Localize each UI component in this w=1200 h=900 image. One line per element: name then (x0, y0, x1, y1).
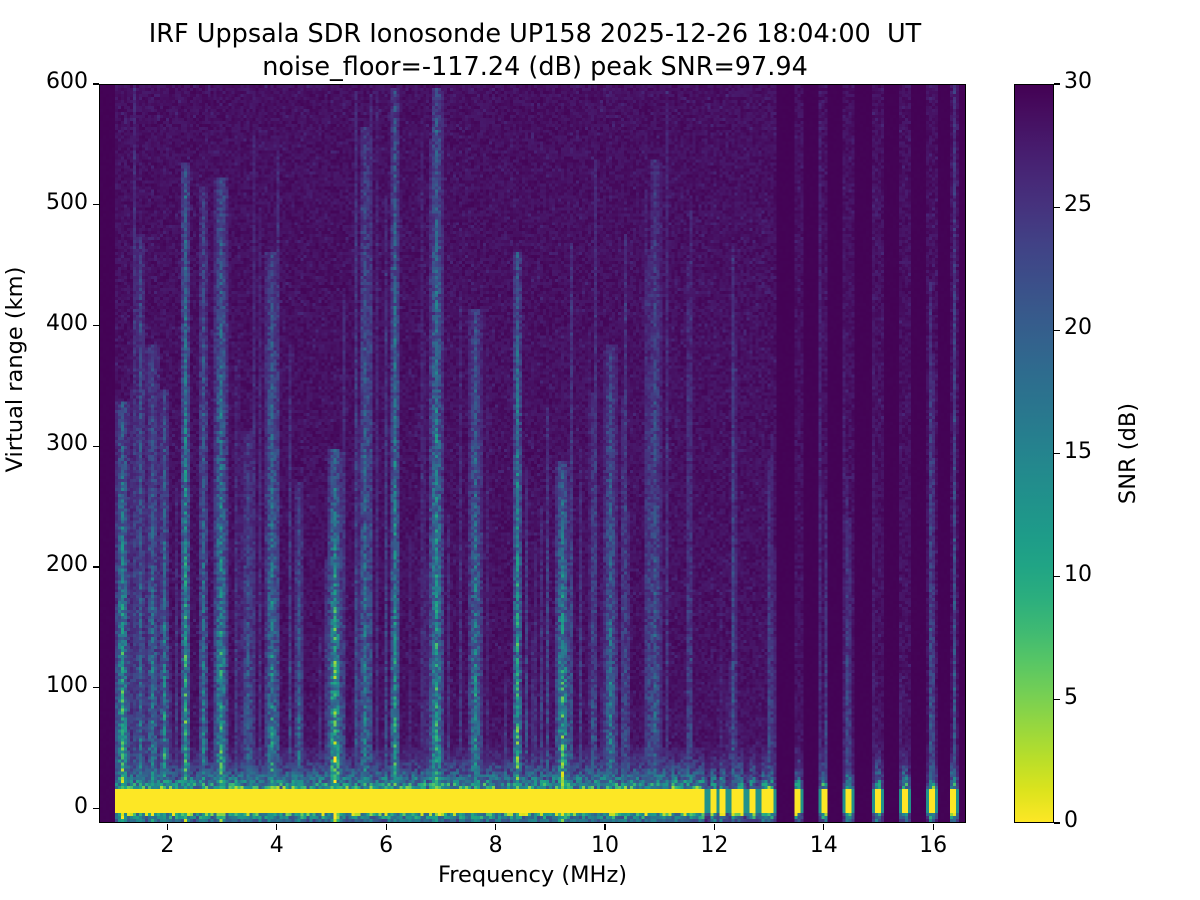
y-tick-label: 0 (74, 794, 88, 819)
ionogram-plot-area (99, 84, 966, 823)
x-tick-label: 12 (684, 833, 744, 858)
y-tick-mark (93, 446, 99, 447)
title-line-2: noise_floor=-117.24 (dB) peak SNR=97.94 (0, 51, 1070, 84)
y-tick-label: 300 (46, 431, 88, 456)
colorbar-tick-label: 0 (1064, 808, 1078, 833)
x-tick-label: 2 (137, 833, 197, 858)
figure-title: IRF Uppsala SDR Ionosonde UP158 2025-12-… (0, 18, 1070, 84)
colorbar-gradient (1015, 85, 1053, 822)
y-tick-label: 200 (46, 552, 88, 577)
y-tick-label: 600 (46, 69, 88, 94)
colorbar-tick-label: 15 (1064, 439, 1092, 464)
colorbar-label: SNR (dB) (1108, 84, 1148, 823)
y-tick-label: 400 (46, 311, 88, 336)
colorbar-tick-mark (1054, 207, 1060, 208)
y-tick-mark (93, 83, 99, 84)
x-tick-mark (276, 824, 277, 830)
y-tick-mark (93, 204, 99, 205)
x-tick-mark (823, 824, 824, 830)
x-tick-label: 16 (903, 833, 963, 858)
colorbar-tick-mark (1054, 699, 1060, 700)
y-tick-mark (93, 325, 99, 326)
x-tick-mark (933, 824, 934, 830)
colorbar-tick-mark (1054, 83, 1060, 84)
colorbar-tick-label: 5 (1064, 685, 1078, 710)
x-tick-mark (495, 824, 496, 830)
y-tick-label: 500 (46, 190, 88, 215)
title-line-1: IRF Uppsala SDR Ionosonde UP158 2025-12-… (0, 18, 1070, 51)
colorbar (1014, 84, 1054, 823)
x-tick-label: 8 (466, 833, 526, 858)
ionogram-figure: IRF Uppsala SDR Ionosonde UP158 2025-12-… (0, 0, 1200, 900)
colorbar-tick-label: 30 (1064, 69, 1092, 94)
colorbar-tick-label: 25 (1064, 192, 1092, 217)
ionogram-heatmap (100, 85, 965, 822)
y-axis-label: Virtual range (km) (0, 0, 36, 739)
x-tick-label: 4 (247, 833, 307, 858)
x-tick-label: 6 (356, 833, 416, 858)
colorbar-tick-label: 10 (1064, 562, 1092, 587)
y-tick-mark (93, 566, 99, 567)
y-tick-mark (93, 808, 99, 809)
colorbar-tick-mark (1054, 330, 1060, 331)
x-tick-mark (714, 824, 715, 830)
x-tick-label: 14 (794, 833, 854, 858)
colorbar-tick-mark (1054, 576, 1060, 577)
colorbar-tick-mark (1054, 822, 1060, 823)
x-tick-label: 10 (575, 833, 635, 858)
colorbar-tick-label: 20 (1064, 315, 1092, 340)
y-tick-mark (93, 687, 99, 688)
x-tick-mark (386, 824, 387, 830)
x-axis-label: Frequency (MHz) (99, 862, 966, 888)
y-tick-label: 100 (46, 673, 88, 698)
x-tick-mark (604, 824, 605, 830)
x-tick-mark (167, 824, 168, 830)
colorbar-tick-mark (1054, 453, 1060, 454)
